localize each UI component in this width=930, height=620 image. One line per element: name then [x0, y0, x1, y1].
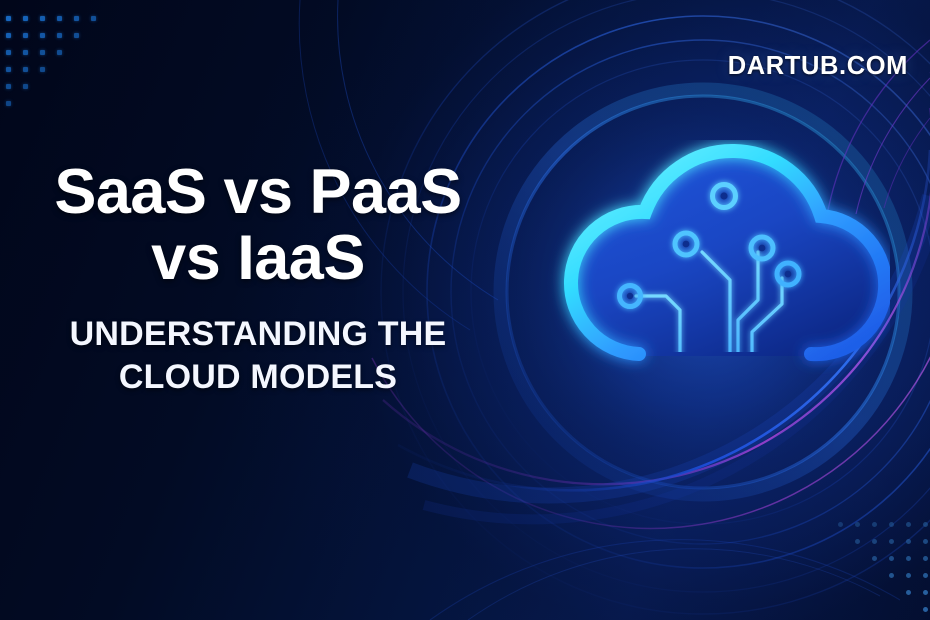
decorative-dot [23, 33, 28, 38]
decorative-dot [40, 16, 45, 21]
decorative-dot [6, 50, 11, 55]
decorative-dot [923, 539, 928, 544]
decorative-dot [23, 50, 28, 55]
brand-wordmark: DARTUB.COM [728, 52, 908, 81]
subtitle-line-2: CLOUD MODELS [0, 356, 516, 399]
decorative-dot [23, 16, 28, 21]
title-line-1: SaaS vs PaaS [54, 157, 461, 227]
decorative-dot [74, 16, 79, 21]
decorative-dot [6, 33, 11, 38]
subtitle-line-1: UNDERSTANDING THE [70, 315, 447, 353]
banner-canvas: DARTUB.COM SaaS vs PaaS vs IaaS UNDERSTA… [0, 0, 930, 620]
decorative-dot [57, 33, 62, 38]
decorative-dot [6, 101, 11, 106]
title-line-2: vs IaaS [0, 226, 516, 292]
decorative-dot [889, 539, 894, 544]
decorative-dot [906, 590, 911, 595]
hero-text-block: SaaS vs PaaS vs IaaS UNDERSTANDING THE C… [0, 160, 516, 399]
decorative-dot [889, 556, 894, 561]
decorative-dot [74, 33, 79, 38]
decorative-dot [6, 16, 11, 21]
decorative-dot [40, 67, 45, 72]
decorative-dot [57, 50, 62, 55]
decorative-dot [906, 573, 911, 578]
decorative-dot [838, 522, 843, 527]
decorative-dot [23, 84, 28, 89]
decorative-dot [23, 67, 28, 72]
decorative-dot [889, 573, 894, 578]
decorative-dot [872, 539, 877, 544]
decorative-dot [889, 522, 894, 527]
decorative-dot [872, 522, 877, 527]
dot-pattern-top-left [6, 16, 102, 108]
decorative-dot [923, 522, 928, 527]
decorative-dot [855, 522, 860, 527]
decorative-dot [6, 84, 11, 89]
decorative-dot [40, 50, 45, 55]
decorative-dot [923, 573, 928, 578]
decorative-dot [906, 522, 911, 527]
decorative-dot [923, 590, 928, 595]
cloud-circuit-icon [520, 140, 890, 440]
page-subtitle: UNDERSTANDING THE CLOUD MODELS [0, 313, 516, 399]
decorative-dot [906, 556, 911, 561]
decorative-dot [855, 539, 860, 544]
decorative-dot [91, 16, 96, 21]
decorative-dot [923, 556, 928, 561]
decorative-dot [6, 67, 11, 72]
decorative-dot [40, 33, 45, 38]
decorative-dot [57, 16, 62, 21]
page-title: SaaS vs PaaS vs IaaS [0, 160, 516, 291]
decorative-dot [906, 539, 911, 544]
dot-pattern-bottom-right [838, 522, 930, 614]
cloud-fill [567, 148, 888, 356]
decorative-dot [872, 556, 877, 561]
decorative-dot [923, 607, 928, 612]
